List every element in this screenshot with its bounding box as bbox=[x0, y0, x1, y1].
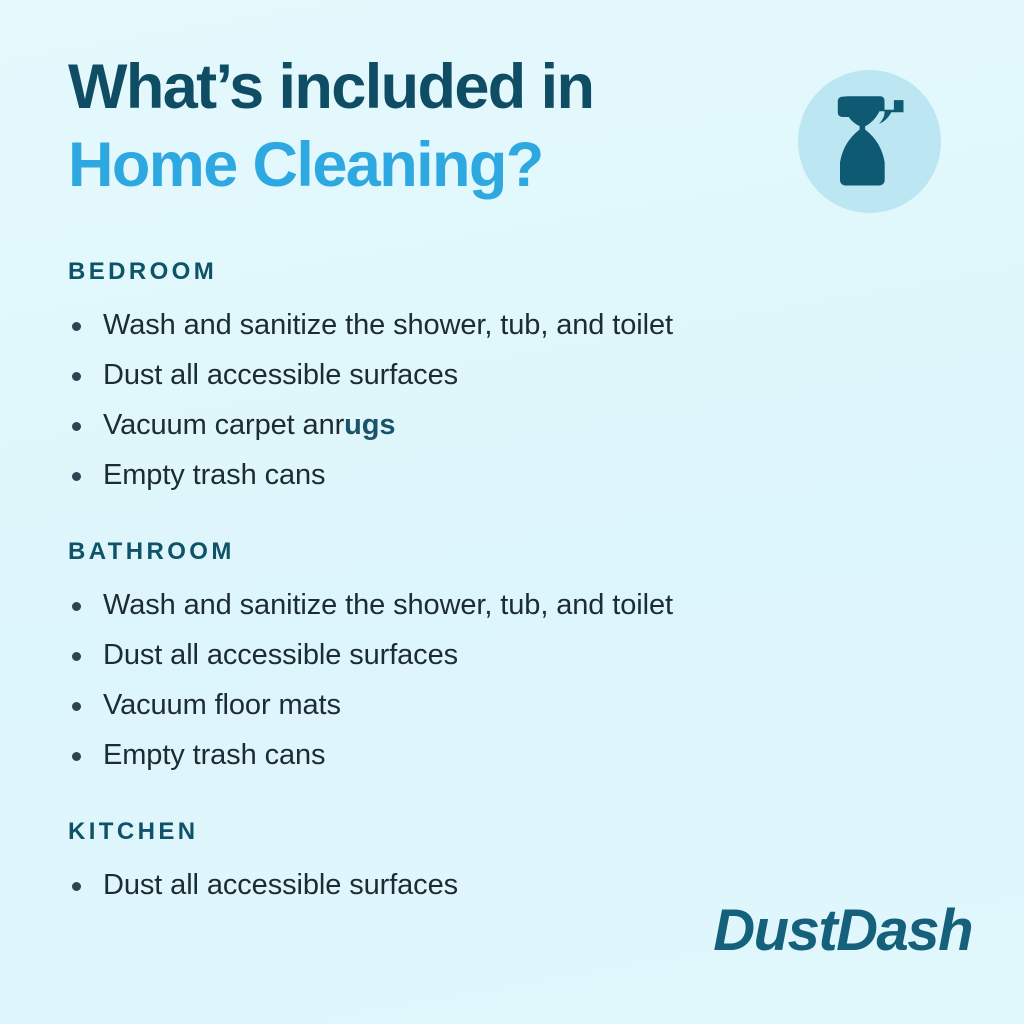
section-heading: BATHROOM bbox=[68, 538, 908, 566]
section-bedroom: BEDROOM Wash and sanitize the shower, tu… bbox=[68, 258, 908, 500]
list-item: Vacuum carpet anrugs bbox=[68, 400, 908, 450]
section-bathroom: BATHROOM Wash and sanitize the shower, t… bbox=[68, 538, 908, 780]
list-item: Wash and sanitize the shower, tub, and t… bbox=[68, 580, 908, 630]
list-item-text: Wash and sanitize the shower, tub, and t… bbox=[103, 589, 673, 621]
section-heading: BEDROOM bbox=[68, 258, 908, 286]
list-item: Wash and sanitize the shower, tub, and t… bbox=[68, 300, 908, 350]
list-item: Dust all accessible surfaces bbox=[68, 350, 908, 400]
list-item-text-glitch: ugs bbox=[344, 409, 395, 441]
list-item-text: Empty trash cans bbox=[103, 739, 325, 771]
spray-bottle-icon bbox=[831, 94, 909, 190]
title-line-primary: What’s included in bbox=[68, 48, 728, 126]
list-item-text: Wash and sanitize the shower, tub, and t… bbox=[103, 309, 673, 341]
page-title: What’s included in Home Cleaning? bbox=[68, 48, 728, 204]
spray-bottle-badge bbox=[798, 70, 941, 213]
title-line-accent: Home Cleaning? bbox=[68, 126, 728, 204]
section-heading: KITCHEN bbox=[68, 818, 908, 846]
list-item-text: Empty trash cans bbox=[103, 459, 325, 491]
list-item-text: Dust all accessible surfaces bbox=[103, 869, 458, 901]
list-item: Vacuum floor mats bbox=[68, 680, 908, 730]
list-item-text: Vacuum floor mats bbox=[103, 689, 341, 721]
section-items: Wash and sanitize the shower, tub, and t… bbox=[68, 300, 908, 500]
list-item-text: Dust all accessible surfaces bbox=[103, 359, 458, 391]
list-item: Empty trash cans bbox=[68, 730, 908, 780]
section-items: Wash and sanitize the shower, tub, and t… bbox=[68, 580, 908, 780]
section-kitchen: KITCHEN Dust all accessible surfaces bbox=[68, 818, 908, 910]
poster-canvas: What’s included in Home Cleaning? BEDROO… bbox=[0, 0, 1024, 1024]
brand-logo: DustDash bbox=[713, 902, 972, 960]
list-item-text: Vacuum carpet anr bbox=[103, 409, 344, 441]
list-item: Dust all accessible surfaces bbox=[68, 630, 908, 680]
services-list: BEDROOM Wash and sanitize the shower, tu… bbox=[68, 258, 908, 910]
list-item: Empty trash cans bbox=[68, 450, 908, 500]
list-item-text: Dust all accessible surfaces bbox=[103, 639, 458, 671]
